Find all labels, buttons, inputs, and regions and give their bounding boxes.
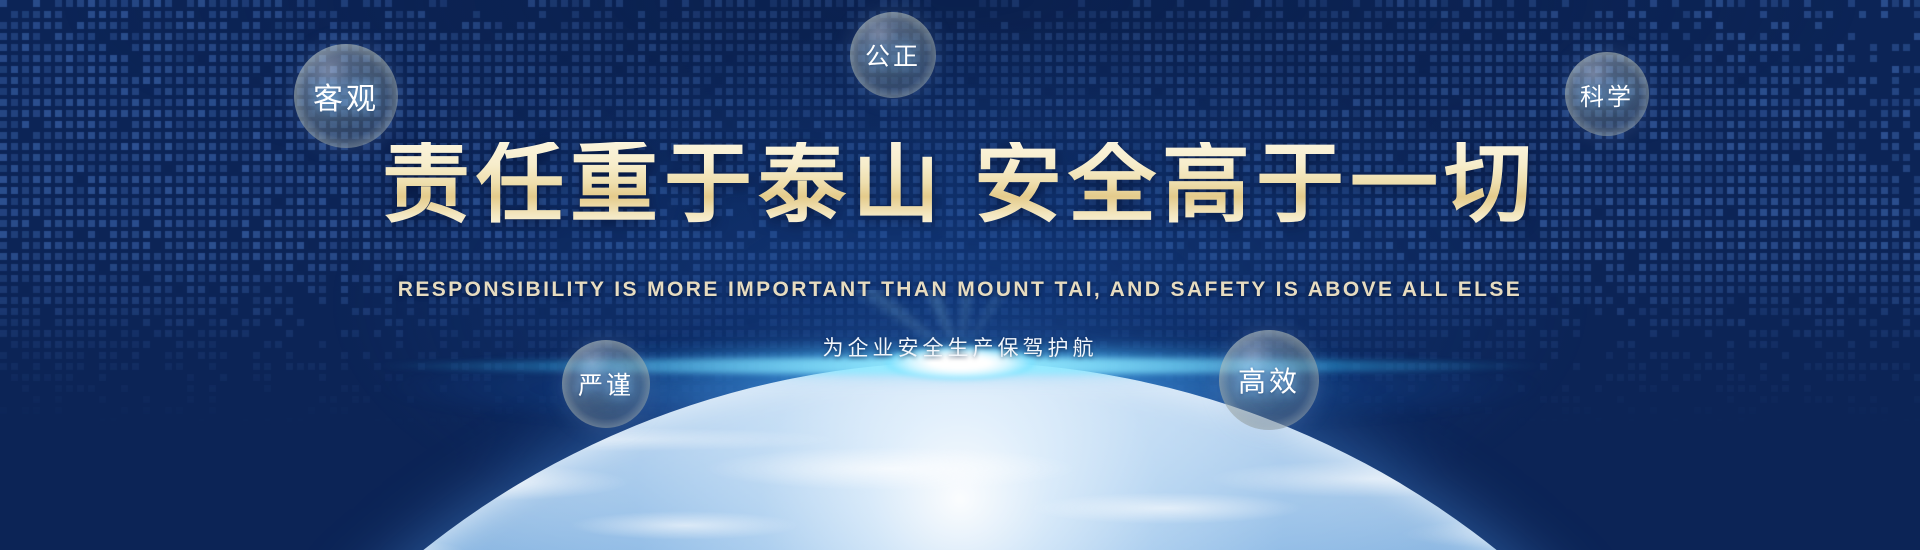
- orb-badge-rigorous: 严谨: [562, 340, 650, 428]
- safety-banner: 责任重于泰山安全高于一切 RESPONSIBILITY IS MORE IMPO…: [0, 0, 1920, 550]
- orb-label-scientific: 科学: [1580, 77, 1634, 112]
- orb-badge-efficient: 高效: [1219, 330, 1319, 430]
- orb-label-rigorous: 严谨: [578, 366, 634, 402]
- orb-badge-objective: 客观: [294, 44, 398, 148]
- subtitle-chinese: 为企业安全生产保驾护航: [0, 332, 1920, 362]
- orb-label-objective: 客观: [313, 74, 379, 118]
- headline-part-2: 安全高于一切: [974, 137, 1538, 234]
- orb-badge-scientific: 科学: [1565, 52, 1649, 136]
- orb-label-fair: 公正: [865, 37, 921, 73]
- banner-content: 责任重于泰山安全高于一切 RESPONSIBILITY IS MORE IMPO…: [0, 0, 1920, 550]
- headline: 责任重于泰山安全高于一切: [0, 142, 1920, 230]
- orb-label-efficient: 高效: [1238, 360, 1300, 400]
- subtitle-english: RESPONSIBILITY IS MORE IMPORTANT THAN MO…: [0, 278, 1920, 302]
- headline-part-1: 责任重于泰山: [382, 137, 946, 234]
- orb-badge-fair: 公正: [850, 12, 936, 98]
